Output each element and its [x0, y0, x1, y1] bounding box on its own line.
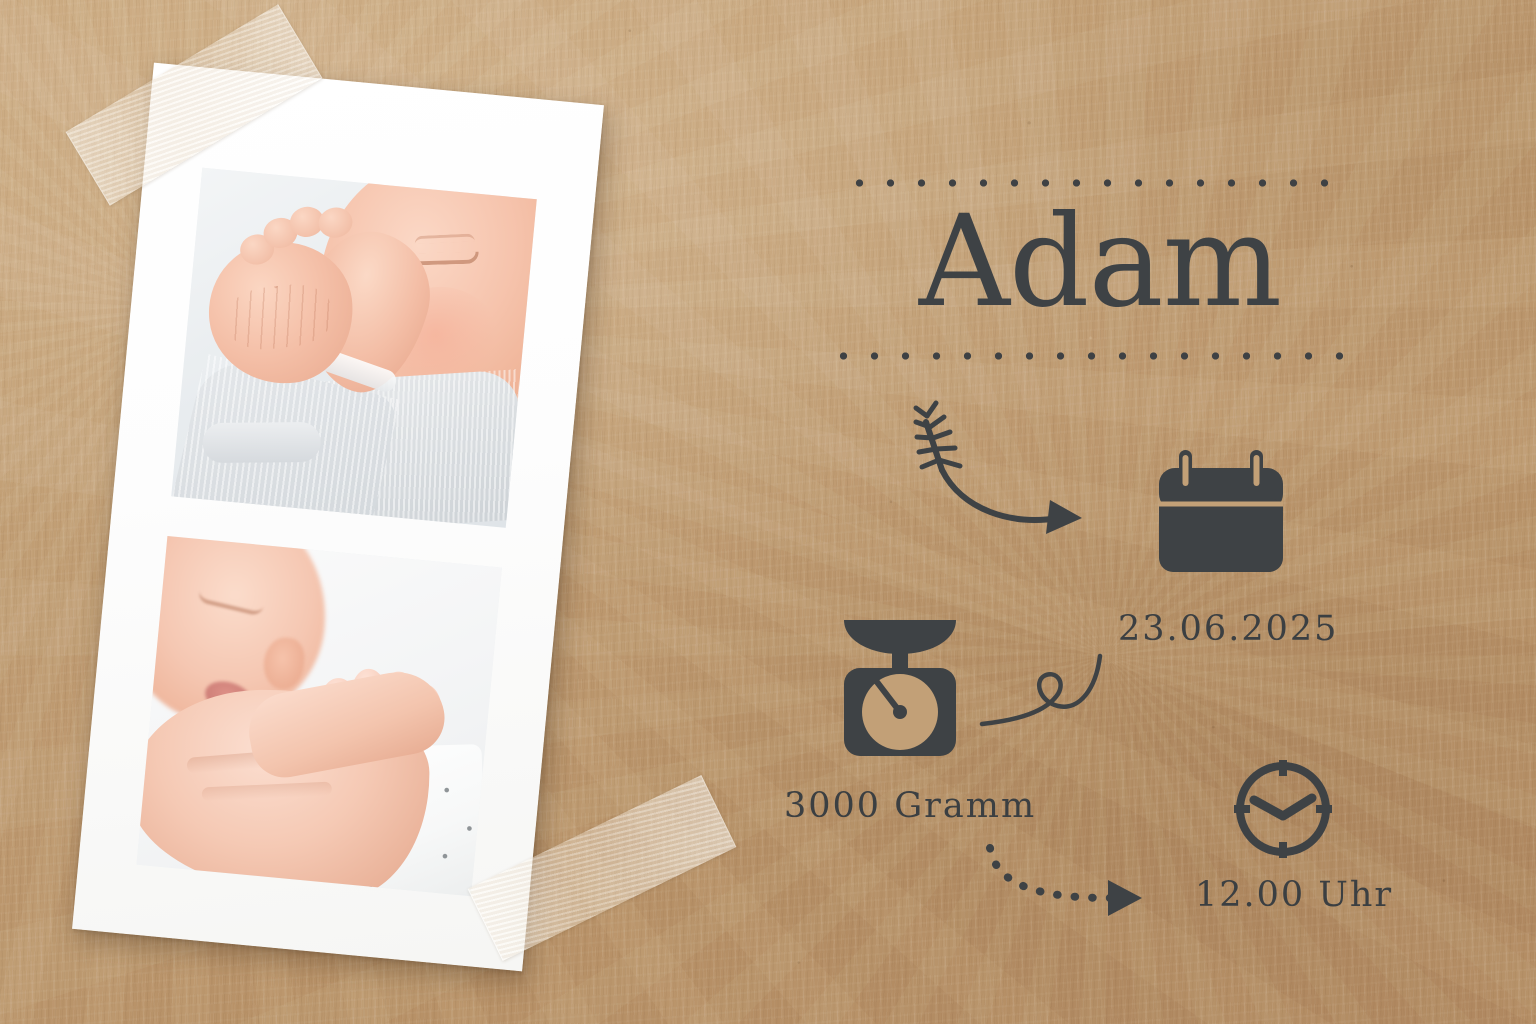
kitchen-scale-icon: [830, 612, 970, 762]
baby-onesie-cuff: [202, 422, 320, 463]
baby-name-title: Adam: [760, 196, 1440, 328]
photo-card[interactable]: [72, 63, 604, 972]
birth-time-label: 12.00 Uhr: [1195, 875, 1393, 915]
dotted-divider-bottom: [828, 352, 1347, 360]
photo-sleeping-baby-hands[interactable]: [171, 168, 537, 528]
birth-weight-label: 3000 Gramm: [784, 786, 1036, 826]
dotted-divider-top: [844, 179, 1347, 187]
dotted-curved-arrow: [982, 836, 1162, 926]
calendar-icon: [1153, 446, 1289, 586]
birth-date-label: 23.06.2025: [1118, 609, 1338, 649]
photo-hand-holding[interactable]: [136, 536, 502, 896]
announcement-info-panel: Adam: [760, 0, 1536, 1024]
looping-swirl-line: [978, 648, 1118, 758]
feathered-curved-arrow: [900, 392, 1090, 537]
clock-icon: [1228, 754, 1338, 864]
